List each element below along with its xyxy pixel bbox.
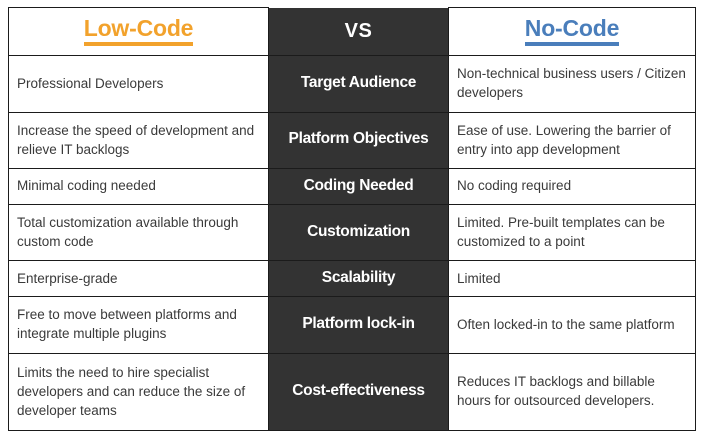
- table-header-row: Low-Code VS No-Code: [9, 8, 696, 56]
- cell-text: Enterprise-grade: [17, 269, 260, 288]
- cell-low-code-coding-needed: Minimal coding needed: [9, 169, 269, 205]
- criterion-scalability: Scalability: [269, 261, 449, 297]
- cell-text: Professional Developers: [17, 74, 260, 93]
- cell-text: No coding required: [457, 176, 687, 195]
- criterion-customization: Customization: [269, 204, 449, 261]
- header-cell-low-code: Low-Code: [9, 8, 269, 56]
- table-row: Total customization available through cu…: [9, 204, 696, 261]
- cell-no-code-target-audience: Non-technical business users / Citizen d…: [449, 56, 696, 113]
- cell-low-code-customization: Total customization available through cu…: [9, 204, 269, 261]
- criterion-label: Target Audience: [301, 74, 416, 91]
- criterion-label: Platform lock-in: [302, 315, 414, 332]
- cell-no-code-platform-objectives: Ease of use. Lowering the barrier of ent…: [449, 112, 696, 169]
- table-row: Increase the speed of development and re…: [9, 112, 696, 169]
- cell-no-code-scalability: Limited: [449, 261, 696, 297]
- table-row: Professional Developers Target Audience …: [9, 56, 696, 113]
- criterion-platform-lock-in: Platform lock-in: [269, 297, 449, 354]
- cell-no-code-platform-lock-in: Often locked-in to the same platform: [449, 297, 696, 354]
- cell-text: Limits the need to hire specialist devel…: [17, 363, 260, 420]
- criterion-target-audience: Target Audience: [269, 56, 449, 113]
- criterion-label: Coding Needed: [304, 177, 414, 194]
- criterion-label: Customization: [307, 223, 410, 240]
- cell-low-code-cost-effectiveness: Limits the need to hire specialist devel…: [9, 353, 269, 430]
- table-row: Enterprise-grade Scalability Limited: [9, 261, 696, 297]
- cell-text: Free to move between platforms and integ…: [17, 305, 260, 343]
- cell-no-code-customization: Limited. Pre-built templates can be cust…: [449, 204, 696, 261]
- cell-low-code-platform-lock-in: Free to move between platforms and integ…: [9, 297, 269, 354]
- cell-low-code-scalability: Enterprise-grade: [9, 261, 269, 297]
- comparison-table-page: Low-Code VS No-Code Professional Develop…: [0, 0, 703, 443]
- criterion-coding-needed: Coding Needed: [269, 169, 449, 205]
- criterion-label: Platform Objectives: [289, 130, 429, 147]
- table-row: Free to move between platforms and integ…: [9, 297, 696, 354]
- header-title-no-code: No-Code: [525, 16, 619, 45]
- header-cell-no-code: No-Code: [449, 8, 696, 56]
- cell-no-code-coding-needed: No coding required: [449, 169, 696, 205]
- table-row: Minimal coding needed Coding Needed No c…: [9, 169, 696, 205]
- cell-no-code-cost-effectiveness: Reduces IT backlogs and billable hours f…: [449, 353, 696, 430]
- criterion-label: Scalability: [322, 269, 395, 286]
- table-row: Limits the need to hire specialist devel…: [9, 353, 696, 430]
- cell-text: Ease of use. Lowering the barrier of ent…: [457, 121, 687, 159]
- criterion-label: Cost-effectiveness: [292, 382, 424, 399]
- cell-text: Non-technical business users / Citizen d…: [457, 64, 687, 102]
- cell-text: Total customization available through cu…: [17, 213, 260, 251]
- header-title-vs: VS: [345, 20, 373, 42]
- cell-text: Minimal coding needed: [17, 176, 260, 195]
- cell-low-code-target-audience: Professional Developers: [9, 56, 269, 113]
- cell-text: Limited: [457, 269, 687, 288]
- cell-text: Limited. Pre-built templates can be cust…: [457, 213, 687, 251]
- criterion-platform-objectives: Platform Objectives: [269, 112, 449, 169]
- comparison-table: Low-Code VS No-Code Professional Develop…: [8, 7, 696, 431]
- cell-text: Often locked-in to the same platform: [457, 315, 687, 334]
- header-title-low-code: Low-Code: [84, 16, 194, 45]
- cell-text: Reduces IT backlogs and billable hours f…: [457, 372, 687, 410]
- cell-text: Increase the speed of development and re…: [17, 121, 260, 159]
- comparison-table-container: Low-Code VS No-Code Professional Develop…: [8, 7, 695, 431]
- cell-low-code-platform-objectives: Increase the speed of development and re…: [9, 112, 269, 169]
- header-cell-vs: VS: [269, 8, 449, 56]
- criterion-cost-effectiveness: Cost-effectiveness: [269, 353, 449, 430]
